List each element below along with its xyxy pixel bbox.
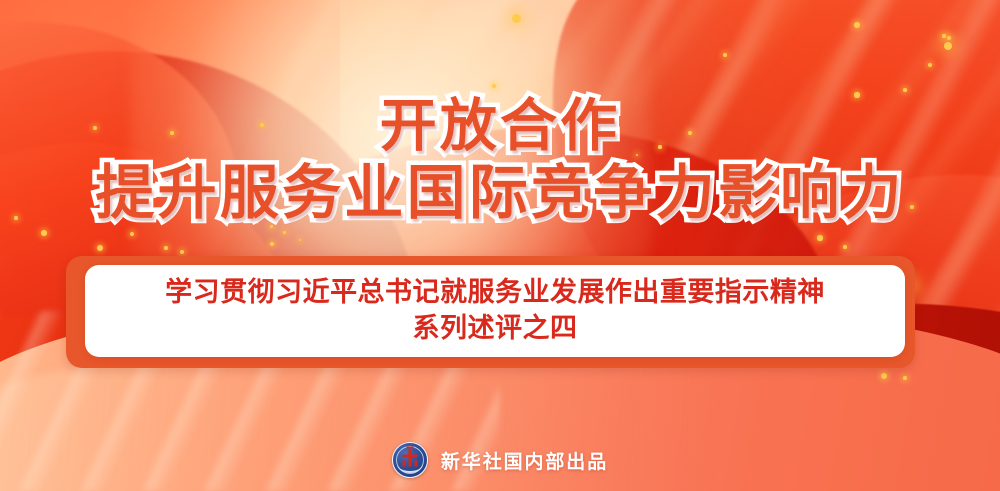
subtitle-line-2: 系列述评之四 [413,311,578,347]
logo-arc [397,464,423,473]
subtitle-card: 学习贯彻习近平总书记就服务业发展作出重要指示精神 系列述评之四 [85,265,905,357]
footer-credit-text: 新华社国内部出品 [441,447,608,474]
headline-line-2: 提升服务业国际竞争力影响力 [0,162,1000,225]
xinhua-logo-icon [392,442,428,478]
footer-credit: 新华社国内部出品 [0,442,1000,478]
headline-block: 开放合作 提升服务业国际竞争力影响力 [0,96,1000,225]
headline-line-1: 开放合作 [0,96,1000,156]
subtitle-line-1: 学习贯彻习近平总书记就服务业发展作出重要指示精神 [165,275,825,311]
poster-canvas: 开放合作 提升服务业国际竞争力影响力 学习贯彻习近平总书记就服务业发展作出重要指… [0,0,1000,491]
